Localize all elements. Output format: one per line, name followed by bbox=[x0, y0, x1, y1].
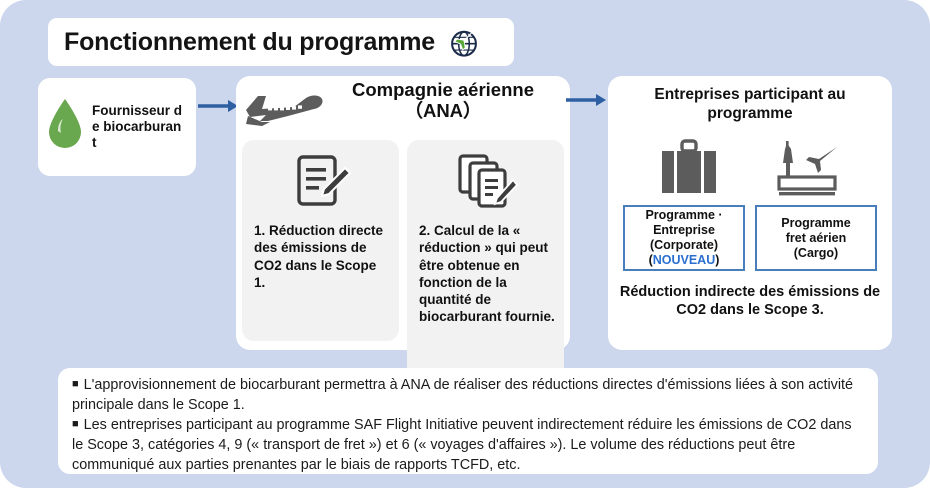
arrow-right-icon-supplier-to-airline bbox=[198, 98, 238, 114]
program-cargo-line3: (Cargo) bbox=[794, 246, 838, 261]
bullet-icon: ■ bbox=[72, 418, 79, 430]
program-corporate-badge-row: (NOUVEAU) bbox=[649, 253, 720, 268]
program-boxes: Programme · Entreprise (Corporate) (NOUV… bbox=[618, 205, 882, 271]
participants-footer: Réduction indirecte des émissions de CO2… bbox=[618, 283, 882, 319]
airline-card: Compagnie aérienne （ANA） 1. Réduction di… bbox=[236, 76, 570, 350]
program-box-corporate[interactable]: Programme · Entreprise (Corporate) (NOUV… bbox=[623, 205, 745, 271]
airline-header: Compagnie aérienne （ANA） bbox=[236, 76, 570, 138]
program-cargo-line2: fret aérien bbox=[786, 231, 846, 246]
program-corporate-line1: Programme · bbox=[645, 208, 722, 223]
badge-paren-close: ) bbox=[715, 253, 719, 267]
page-title: Fonctionnement du programme bbox=[64, 28, 435, 57]
participants-title: Entreprises participant au programme bbox=[618, 86, 882, 123]
airplane-icon bbox=[236, 80, 328, 135]
note-item-2: ■Les entreprises participant au programm… bbox=[72, 416, 864, 476]
participants-card: Entreprises participant au programme bbox=[608, 76, 892, 350]
arrow-right-icon-airline-to-participants bbox=[566, 92, 606, 108]
document-pencil-icon bbox=[254, 154, 391, 208]
program-corporate-line3: (Corporate) bbox=[650, 238, 718, 253]
green-droplet-icon bbox=[44, 97, 86, 158]
program-cargo-line1: Programme bbox=[781, 216, 850, 231]
program-box-cargo[interactable]: Programme fret aérien (Cargo) bbox=[755, 205, 877, 271]
notes-card: ■L'approvisionnement de biocarburant per… bbox=[58, 368, 878, 474]
program-corporate-line2: Entreprise bbox=[653, 223, 715, 238]
airline-title: Compagnie aérienne （ANA） bbox=[322, 80, 570, 121]
supplier-card: Fournisseur de biocarburant bbox=[38, 78, 196, 176]
globe-plane-logo-icon bbox=[435, 25, 481, 59]
title-card: Fonctionnement du programme bbox=[48, 18, 514, 66]
infographic-root: Fonctionnement du programme Fournisseur … bbox=[0, 0, 930, 488]
supplier-label: Fournisseur de biocarburant bbox=[92, 103, 184, 151]
note-item-1-text: L'approvisionnement de biocarburant perm… bbox=[72, 377, 853, 413]
documents-stack-pencil-icon bbox=[419, 154, 556, 208]
status-badge-nouveau: NOUVEAU bbox=[653, 253, 716, 267]
airline-step-1: 1. Réduction directe des émissions de CO… bbox=[242, 140, 399, 341]
note-item-2-text: Les entreprises participant au programme… bbox=[72, 417, 852, 473]
bullet-icon: ■ bbox=[72, 378, 79, 390]
suitcase-icon bbox=[658, 139, 720, 197]
participants-icons bbox=[618, 135, 882, 197]
airline-step-2-text: 2. Calcul de la « réduction » qui peut ê… bbox=[419, 222, 556, 326]
airline-step-1-text: 1. Réduction directe des émissions de CO… bbox=[254, 222, 391, 291]
airport-cargo-icon bbox=[771, 139, 843, 197]
note-item-1: ■L'approvisionnement de biocarburant per… bbox=[72, 376, 864, 416]
